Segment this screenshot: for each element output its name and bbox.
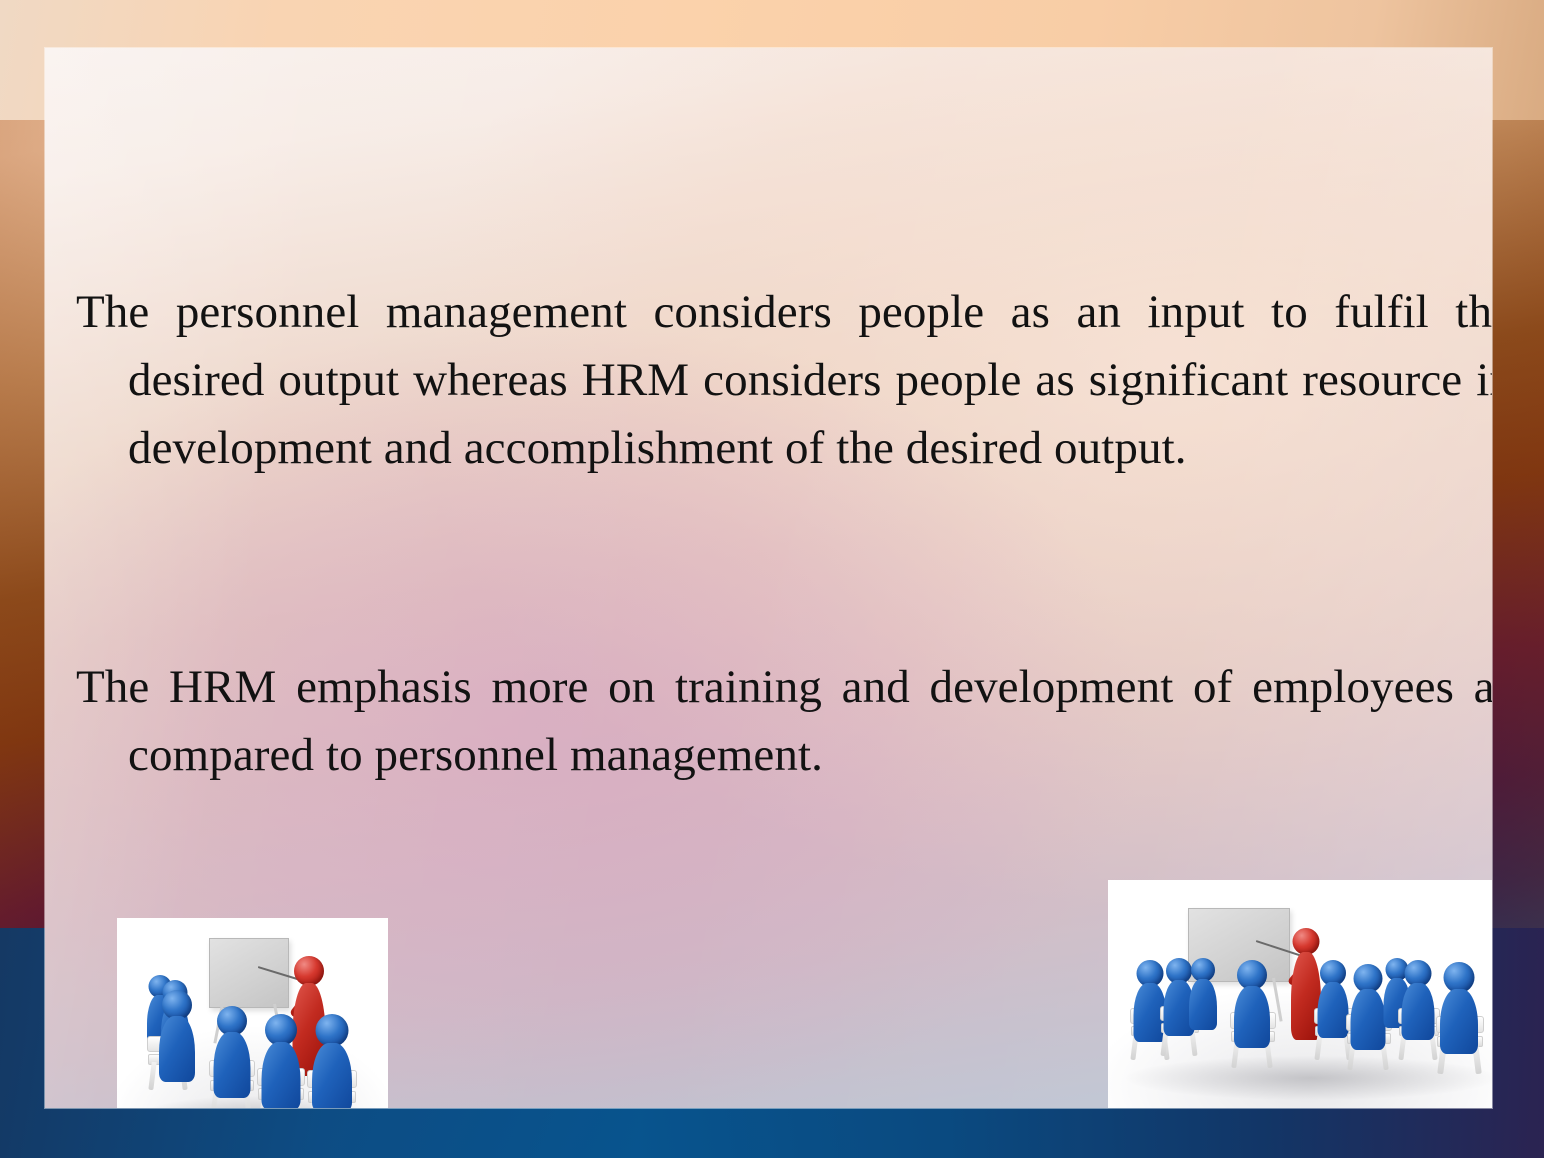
figure-body (312, 1043, 352, 1108)
attendee-figure (1436, 962, 1482, 1054)
figure-body (1189, 979, 1217, 1030)
figure-head (294, 956, 324, 986)
figure-head (1293, 928, 1320, 955)
attendee-figure (1186, 958, 1220, 1030)
attendee-figure (155, 990, 199, 1082)
clipart-scene-large (1108, 880, 1492, 1108)
figure-body (214, 1032, 251, 1098)
attendee-figure (1230, 960, 1274, 1048)
figure-body (159, 1016, 195, 1082)
body-paragraph-1: The personnel management considers peopl… (76, 278, 1492, 482)
slide-content-panel: The personnel management considers peopl… (45, 48, 1492, 1108)
figure-body (262, 1042, 301, 1108)
figure-body (1402, 983, 1435, 1040)
slide-body: The personnel management considers peopl… (45, 48, 1492, 1108)
classroom-training-image-small (117, 918, 388, 1108)
attendee-figure (210, 1006, 254, 1098)
figure-body (1234, 986, 1270, 1048)
figure-body (1440, 989, 1478, 1054)
classroom-training-image-large (1108, 880, 1492, 1108)
figure-body (1318, 982, 1349, 1038)
slide: The personnel management considers peopl… (0, 0, 1544, 1158)
body-paragraph-2: The HRM emphasis more on training and de… (76, 653, 1492, 789)
attendee-figure (1398, 960, 1438, 1040)
attendee-figure (258, 1014, 304, 1108)
attendee-figure (308, 1014, 356, 1108)
clipart-scene-small (117, 918, 388, 1108)
